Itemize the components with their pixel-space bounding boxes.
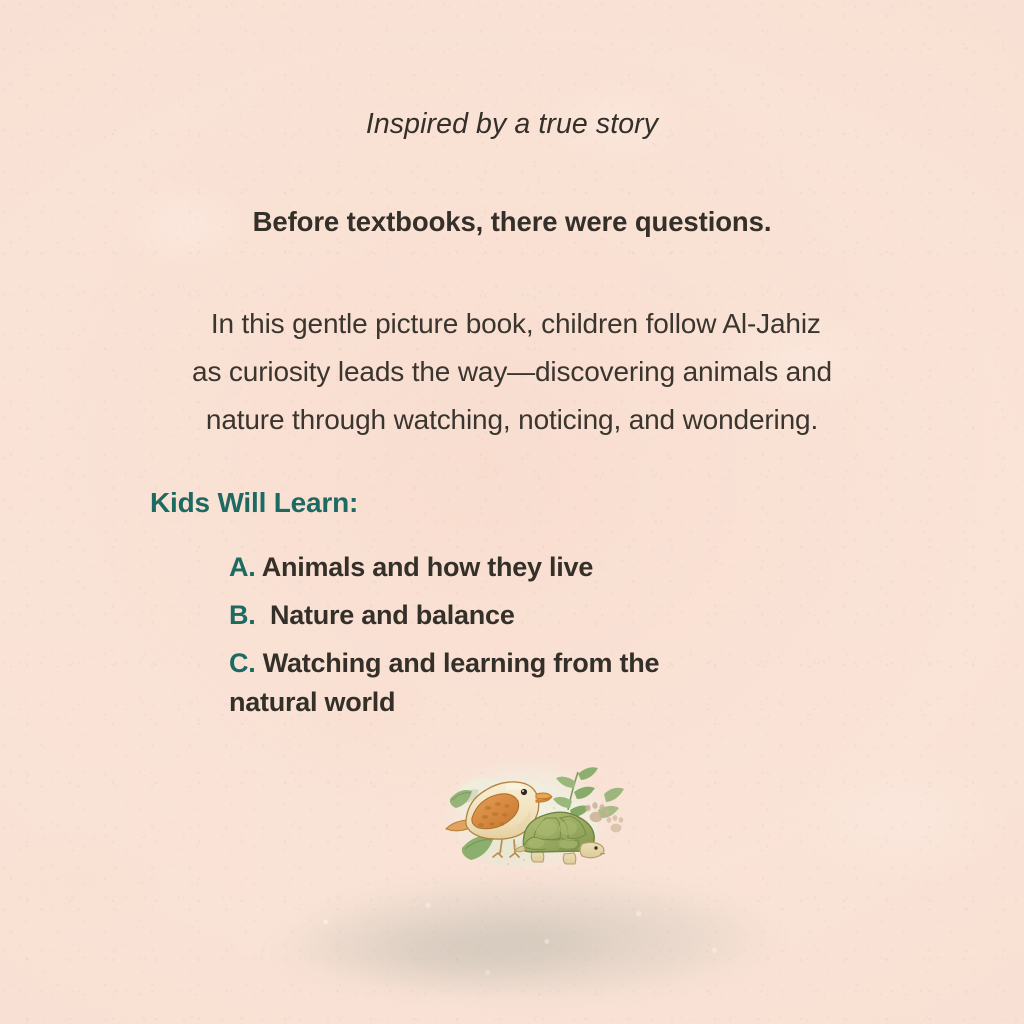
bird-and-tortoise-illustration [428, 748, 624, 880]
list-item: C. Watching and learning from the [229, 639, 909, 687]
learn-list: A. Animals and how they live B. Nature a… [229, 543, 909, 687]
list-text-b: Nature and balance [256, 600, 515, 630]
kids-will-learn-heading: Kids Will Learn: [150, 487, 358, 519]
learn-wrap-line: natural world [229, 687, 395, 718]
list-text-c: Watching and learning from the [256, 648, 660, 678]
list-item: A. Animals and how they live [229, 543, 909, 591]
paw-print-icon [607, 815, 624, 832]
list-marker-b: B. [229, 600, 256, 630]
list-marker-a: A. [229, 552, 256, 582]
kicker-text: Inspired by a true story [0, 108, 1024, 141]
tortoise-head [580, 842, 604, 857]
list-text-a: Animals and how they live [256, 552, 594, 582]
list-marker-c: C. [229, 648, 256, 678]
list-item: B. Nature and balance [229, 591, 909, 639]
headline-text: Before textbooks, there were questions. [0, 206, 1024, 238]
body-line-2: as curiosity leads the way—discovering a… [140, 348, 884, 396]
body-line-3: nature through watching, noticing, and w… [140, 396, 884, 444]
body-paragraph: In this gentle picture book, children fo… [140, 300, 884, 444]
bird-eye [521, 789, 527, 795]
body-line-1: In this gentle picture book, children fo… [140, 300, 884, 348]
tortoise-eye [594, 846, 597, 849]
